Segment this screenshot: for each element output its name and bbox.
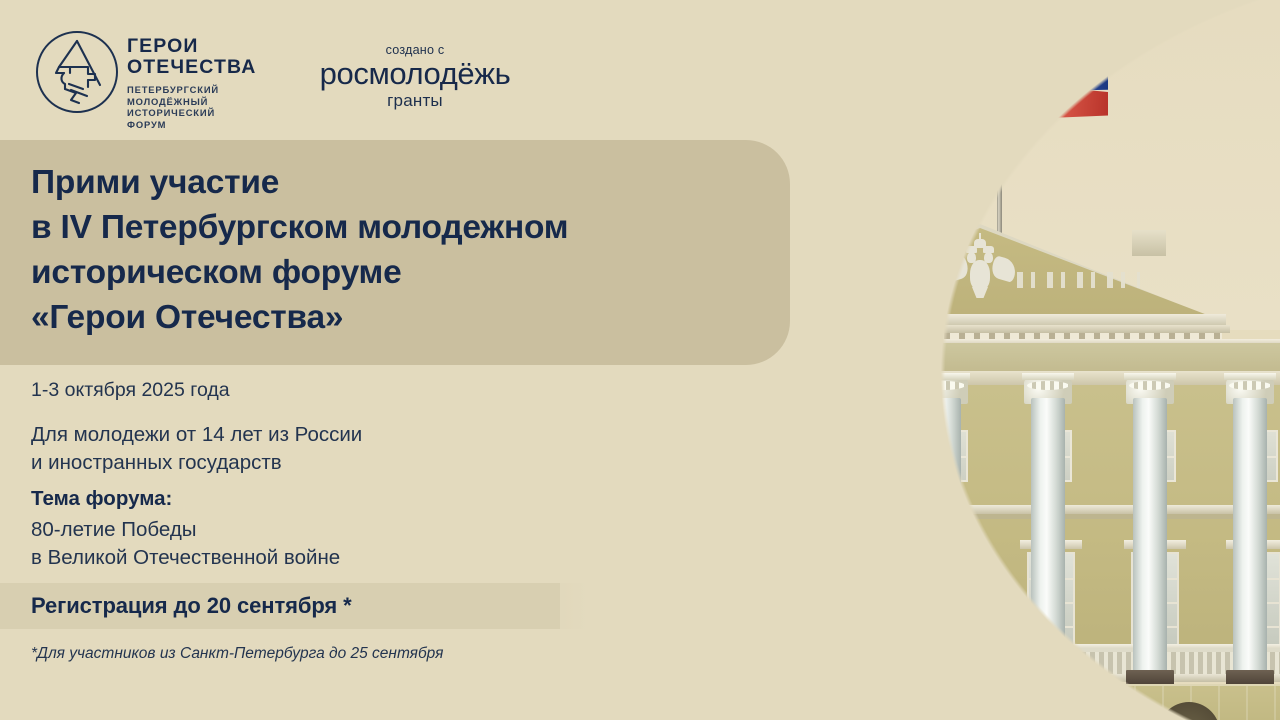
event-dates: 1-3 октября 2025 года: [31, 379, 230, 402]
pediment-scrollwork-right: [1014, 272, 1140, 288]
column: [823, 398, 857, 684]
brand-subtitle: ПЕТЕРБУРГСКИЙ МОЛОДЁЖНЫЙ ИСТОРИЧЕСКИЙ ФО…: [127, 84, 292, 130]
upper-windows-row: [672, 430, 1280, 486]
eagle-body: [970, 260, 990, 290]
partner-grants-label: гранты: [300, 91, 530, 111]
registration-band-fade: [430, 583, 590, 629]
column: [927, 398, 961, 684]
string-course: [672, 505, 1280, 514]
registration-footnote: *Для участников из Санкт-Петербурга до 2…: [31, 645, 443, 663]
theme-label: Тема форума:: [31, 487, 172, 511]
lower-windows-row: [672, 540, 1280, 658]
partner-created-with-label: создано с: [300, 43, 530, 57]
eagle-crown-top: [974, 239, 986, 248]
registration-deadline: Регистрация до 20 сентября *: [31, 593, 352, 619]
column: [1031, 398, 1065, 684]
eagle-tail: [972, 287, 988, 298]
pediment-scrollwork-left: [820, 272, 946, 288]
partner-logo[interactable]: создано с росмолодёжь гранты: [300, 43, 530, 111]
tree-shadow: [538, 652, 596, 704]
balustrade: [672, 648, 1280, 674]
soldier-helmet-profile-icon: [43, 37, 111, 107]
brand-title: ГЕРОИ ОТЕЧЕСТВА: [127, 36, 292, 78]
pediment-block-left: [822, 230, 856, 256]
tree-shadow: [522, 532, 582, 588]
string-course-shadow: [672, 514, 1280, 519]
target-audience: Для молодежи от 14 лет из России и иност…: [31, 421, 362, 477]
eagle-head-right: [984, 252, 993, 263]
eagle-head-left: [967, 252, 976, 263]
pediment-cornice-lower: [732, 325, 1230, 333]
header: ГЕРОИ ОТЕЧЕСТВА ПЕТЕРБУРГСКИЙ МОЛОДЁЖНЫЙ…: [0, 0, 700, 140]
green-tree: [508, 352, 704, 720]
heroes-of-fatherland-logo-icon[interactable]: [36, 31, 118, 113]
tree-shadow: [532, 390, 586, 440]
column: [1133, 398, 1167, 684]
column: [719, 398, 753, 684]
partner-name: росмолодёжь: [300, 57, 530, 91]
column: [1233, 398, 1267, 684]
brand-text: ГЕРОИ ОТЕЧЕСТВА ПЕТЕРБУРГСКИЙ МОЛОДЁЖНЫЙ…: [127, 36, 292, 130]
theme-text: 80-летие Победы в Великой Отечественной …: [31, 516, 340, 572]
pediment-cornice: [736, 314, 1226, 325]
double-headed-eagle-coat-of-arms: [948, 244, 1012, 300]
pediment-block-right: [1132, 230, 1166, 256]
page-title: Прими участие в IV Петербургском молодеж…: [31, 160, 771, 340]
